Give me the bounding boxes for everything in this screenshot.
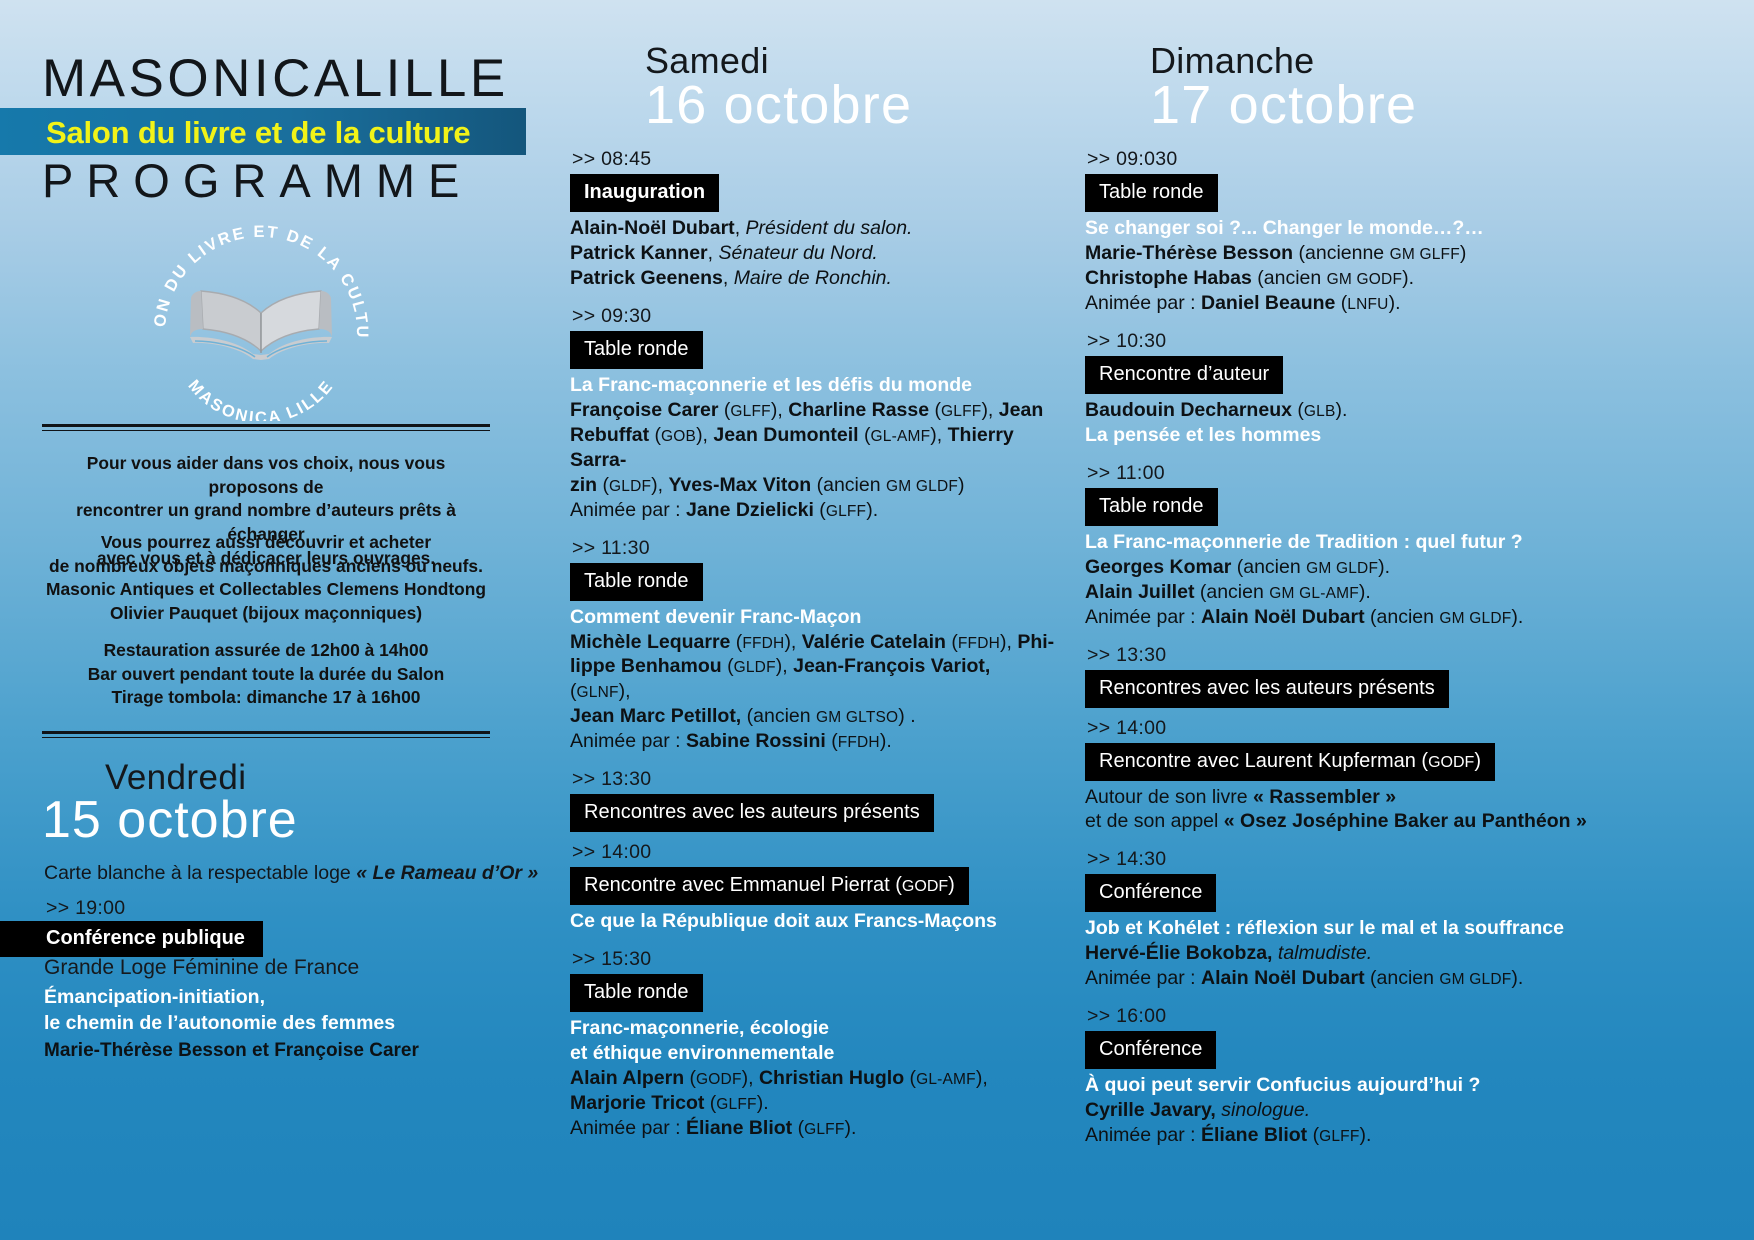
lodge-abbrev: GL-AMF (916, 1071, 976, 1088)
lodge-abbrev: GODF (1428, 754, 1474, 771)
person-name: Éliane Bliot (1201, 1124, 1307, 1146)
body-text: ( (1292, 399, 1304, 421)
slot-body-line: Alain Juillet (ancien GM GL-AMF). (1085, 580, 1615, 605)
slot-label-bar: Rencontre avec Emmanuel Pierrat (GODF) (570, 867, 969, 905)
person-name: Alain-Noël Dubart (570, 217, 735, 239)
body-text: Animée par : (570, 499, 686, 521)
slot-body: La Franc-maçonnerie de Tradition : quel … (1085, 530, 1615, 630)
person-role: Maire de Ronchin. (734, 267, 892, 289)
slot-time: >> 13:30 (1085, 644, 1615, 667)
person-name: Patrick Geenens (570, 267, 723, 289)
slot-body-line: Michèle Lequarre (FFDH), Valérie Catelai… (570, 630, 1055, 655)
event-title: À quoi peut servir Confucius aujourd’hui… (1085, 1074, 1480, 1096)
slot-body-line: Patrick Kanner, Sénateur du Nord. (570, 241, 1055, 266)
person-name: Jean (999, 399, 1043, 421)
slot-label-bar: Conférence (1085, 1031, 1216, 1069)
body-text: ( (1335, 292, 1347, 314)
event-title: et éthique environnementale (570, 1042, 834, 1064)
lodge-abbrev: GM GL-AMF (1269, 585, 1359, 602)
body-text: ( (730, 631, 742, 653)
slot-body-line: Autour de son livre « Rassembler » (1085, 785, 1615, 810)
person-name: Marie-Thérèse Besson (1085, 242, 1293, 264)
slot-body-line: Franc-maçonnerie, écologie (570, 1016, 1055, 1041)
slot-body-line: Animée par : Daniel Beaune (LNFU). (1085, 291, 1615, 316)
slot-label-bar: Table ronde (570, 331, 703, 369)
body-text: ). (1389, 292, 1401, 314)
subtitle-band: Salon du livre et de la culture (0, 108, 526, 155)
sunday-slot-list: >> 09:030Table rondeSe changer soi ?... … (1085, 148, 1615, 1162)
friday-title-line-2: le chemin de l’autonomie des femmes (44, 1012, 395, 1035)
event-title: Job et Kohélet : réflexion sur le mal et… (1085, 917, 1564, 939)
body-text: ). (757, 1092, 769, 1114)
body-text: (ancien (1194, 581, 1269, 603)
slot-spacer (1085, 834, 1615, 848)
body-text: ), (771, 399, 788, 421)
person-name: Jean Marc Petillot, (570, 705, 741, 727)
slot-time: >> 09:30 (570, 305, 1055, 328)
slot-body-line: Cyrille Javary, sinologue. (1085, 1098, 1615, 1123)
body-text: ( (814, 499, 826, 521)
lodge-abbrev: GLFF (804, 1121, 844, 1138)
person-name: Georges Komar (1085, 556, 1231, 578)
body-text: ), (619, 680, 631, 702)
slot-spacer (1085, 708, 1615, 717)
person-name: Phi- (1017, 631, 1054, 653)
person-name: Alain Noël Dubart (1201, 606, 1365, 628)
lodge-abbrev: GM GLFF (1390, 246, 1460, 263)
slot-label-bar: Rencontres avec les auteurs présents (1085, 670, 1449, 708)
schedule-slot: >> 10:30Rencontre d’auteurBaudouin Decha… (1085, 330, 1615, 462)
slot-time: >> 11:00 (1085, 462, 1615, 485)
slot-body: Baudouin Decharneux (GLB).La pensée et l… (1085, 398, 1615, 448)
schedule-slot: >> 14:30ConférenceJob et Kohélet : réfle… (1085, 848, 1615, 1005)
body-text: et de son appel (1085, 810, 1224, 832)
slot-time: >> 14:30 (1085, 848, 1615, 871)
slot-spacer (1085, 316, 1615, 330)
slot-time: >> 10:30 (1085, 330, 1615, 353)
body-text: ( (722, 655, 734, 677)
body-text: ), (976, 1067, 988, 1089)
friday-speakers: Marie-Thérèse Besson et Françoise Carer (44, 1040, 419, 1062)
lodge-abbrev: GLNF (577, 684, 619, 701)
paren-close: ) (948, 874, 955, 896)
schedule-slot: >> 13:30Rencontres avec les auteurs prés… (570, 768, 1055, 841)
body-text: (ancien (1365, 606, 1440, 628)
saturday-date: 16 octobre (645, 78, 912, 132)
person-name: Michèle Lequarre (570, 631, 730, 653)
slot-label-bar: Table ronde (570, 974, 703, 1012)
slot-spacer (570, 523, 1055, 537)
slot-spacer (570, 1141, 1055, 1155)
schedule-slot: >> 14:00Rencontre avec Emmanuel Pierrat … (570, 841, 1055, 948)
event-title: Ce que la République doit aux Francs-Maç… (570, 910, 997, 932)
slot-body-line: Baudouin Decharneux (GLB). (1085, 398, 1615, 423)
slot-body-line: Françoise Carer (GLFF), Charline Rasse (… (570, 398, 1055, 423)
body-text: ). (1360, 1124, 1372, 1146)
body-text: ). (1511, 606, 1523, 628)
slot-body-line: zin (GLDF), Yves-Max Viton (ancien GM GL… (570, 473, 1055, 498)
body-text: ( (792, 1117, 804, 1139)
slot-time: >> 16:00 (1085, 1005, 1615, 1028)
person-name: Alain Alpern (570, 1067, 684, 1089)
divider-bottom (42, 731, 490, 738)
person-role: sinologue. (1221, 1099, 1310, 1121)
intro-paragraph-3: Restauration assurée de 12h00 à 14h00 Ba… (40, 639, 492, 710)
event-title: La Franc-maçonnerie et les défis du mond… (570, 374, 972, 396)
body-text: ), (1000, 631, 1017, 653)
schedule-slot: >> 11:30Table rondeComment devenir Franc… (570, 537, 1055, 769)
slot-body-line: À quoi peut servir Confucius aujourd’hui… (1085, 1073, 1615, 1098)
body-text: ( (684, 1067, 696, 1089)
svg-text:MASONICA LILLE: MASONICA LILLE (185, 377, 338, 421)
friday-carte-blanche: Carte blanche à la respectable loge « Le… (44, 862, 538, 885)
slot-body-line: Alain Alpern (GODF), Christian Huglo (GL… (570, 1066, 1055, 1091)
slot-body-line: Se changer soi ?... Changer le monde…?… (1085, 216, 1615, 241)
schedule-slot: >> 09:030Table rondeSe changer soi ?... … (1085, 148, 1615, 330)
slot-body-line: Marjorie Tricot (GLFF). (570, 1091, 1055, 1116)
programme-heading: PROGRAMME (42, 157, 472, 204)
slot-body: Job et Kohélet : réflexion sur le mal et… (1085, 916, 1615, 991)
body-text: (ancien (1231, 556, 1306, 578)
schedule-slot: >> 16:00ConférenceÀ quoi peut servir Con… (1085, 1005, 1615, 1162)
slot-body-line: Jean Marc Petillot, (ancien GM GLTSO) . (570, 704, 1055, 729)
body-text: ), (776, 655, 793, 677)
body-text: ( (946, 631, 958, 653)
person-name: Marjorie Tricot (570, 1092, 704, 1114)
schedule-slot: >> 14:00Rencontre avec Laurent Kupferman… (1085, 717, 1615, 849)
body-text: , (723, 267, 734, 289)
brand-title: MASONICALILLE (42, 52, 509, 105)
intro-paragraph-2: Vous pourrez aussi découvrir et acheter … (40, 531, 492, 626)
carte-blanche-loge: « Le Rameau d’Or » (356, 862, 538, 884)
person-name: Jane Dzielicki (686, 499, 814, 521)
person-name: Rebuffat (570, 424, 649, 446)
person-name: Sabine Rossini (686, 730, 826, 752)
person-name: Alain Noël Dubart (1201, 967, 1365, 989)
slot-body-line: Rebuffat (GOB), Jean Dumonteil (GL-AMF),… (570, 423, 1055, 473)
lodge-abbrev: GL-AMF (871, 428, 931, 445)
body-text: ) (1460, 242, 1467, 264)
slot-time: >> 14:00 (570, 841, 1055, 864)
lodge-abbrev: GLB (1304, 403, 1336, 420)
person-name: lippe Benhamou (570, 655, 722, 677)
schedule-slot: >> 13:30Rencontres avec les auteurs prés… (1085, 644, 1615, 717)
body-text: , (708, 242, 719, 264)
slot-time: >> 14:00 (1085, 717, 1615, 740)
slot-body: Alain-Noël Dubart, Président du salon.Pa… (570, 216, 1055, 291)
slot-body: La Franc-maçonnerie et les défis du mond… (570, 373, 1055, 523)
body-text: ), (981, 399, 998, 421)
lodge-abbrev: GODF (696, 1071, 742, 1088)
friday-time: >> 19:00 (44, 897, 125, 920)
person-role: talmudiste. (1278, 942, 1372, 964)
lodge-abbrev: GM GLTSO (816, 709, 898, 726)
slot-spacer (570, 934, 1055, 948)
slot-body-line: Job et Kohélet : réflexion sur le mal et… (1085, 916, 1615, 941)
person-name: « Osez Joséphine Baker au Panthéon » (1224, 810, 1587, 832)
person-name: Valérie Catelain (802, 631, 946, 653)
person-name: Christian Huglo (759, 1067, 904, 1089)
event-title: Se changer soi ?... Changer le monde…?… (1085, 217, 1484, 239)
lodge-abbrev: GM GLDF (886, 478, 958, 495)
body-text: ). (1378, 556, 1390, 578)
slot-spacer (1085, 1148, 1615, 1162)
person-name: Hervé-Élie Bokobza, (1085, 942, 1272, 964)
person-name: Charline Rasse (788, 399, 929, 421)
body-text: (ancien (811, 474, 886, 496)
friday-title-line-1: Émancipation-initiation, (44, 986, 265, 1009)
body-text: ), (651, 474, 668, 496)
slot-body-line: Animée par : Éliane Bliot (GLFF). (570, 1116, 1055, 1141)
event-title: La Franc-maçonnerie de Tradition : quel … (1085, 531, 1523, 553)
paren-close: ) (1474, 750, 1481, 772)
sunday-date: 17 octobre (1150, 78, 1417, 132)
slot-body-line: Alain-Noël Dubart, Président du salon. (570, 216, 1055, 241)
lodge-abbrev: GLFF (1319, 1128, 1359, 1145)
body-text: ( (859, 424, 871, 446)
slot-body-line: Christophe Habas (ancien GM GODF). (1085, 266, 1615, 291)
person-name: « Rassembler » (1253, 786, 1396, 808)
body-text: (ancien (741, 705, 816, 727)
slot-time: >> 08:45 (570, 148, 1055, 171)
paren-open: ( (895, 874, 902, 896)
body-text: ). (1511, 967, 1523, 989)
body-text: Autour de son livre (1085, 786, 1253, 808)
body-text: ( (649, 424, 661, 446)
slot-body-line: La pensée et les hommes (1085, 423, 1615, 448)
slot-label-bar: Rencontre d’auteur (1085, 356, 1283, 394)
person-name: Jean Dumonteil (713, 424, 858, 446)
slot-spacer (570, 832, 1055, 841)
saturday-heading: Samedi 16 octobre (645, 40, 912, 132)
slot-body-line: et de son appel « Osez Joséphine Baker a… (1085, 809, 1615, 834)
body-text: ). (845, 1117, 857, 1139)
schedule-slot: >> 08:45InaugurationAlain-Noël Dubart, P… (570, 148, 1055, 305)
body-text: ( (1307, 1124, 1319, 1146)
slot-time: >> 15:30 (570, 948, 1055, 971)
open-book-icon (190, 291, 332, 360)
person-name: Jean-François Variot, (793, 655, 990, 677)
body-text: ). (1402, 267, 1414, 289)
slot-body: Se changer soi ?... Changer le monde…?…M… (1085, 216, 1615, 316)
person-name: Baudouin Decharneux (1085, 399, 1292, 421)
person-name: Christophe Habas (1085, 267, 1252, 289)
lodge-abbrev: GLDF (609, 478, 651, 495)
lodge-abbrev: GLFF (941, 403, 981, 420)
slot-time: >> 11:30 (570, 537, 1055, 560)
body-text: , (735, 217, 746, 239)
friday-event-label: Conférence publique (0, 921, 263, 957)
slot-body: À quoi peut servir Confucius aujourd’hui… (1085, 1073, 1615, 1148)
slot-body: Comment devenir Franc-MaçonMichèle Lequa… (570, 605, 1055, 755)
event-title: Comment devenir Franc-Maçon (570, 606, 861, 628)
body-text: Animée par : (1085, 1124, 1201, 1146)
slot-label-text: Rencontre avec Emmanuel Pierrat (584, 874, 895, 896)
divider-top (42, 424, 490, 431)
body-text: ) (958, 474, 965, 496)
body-text: ), (742, 1067, 759, 1089)
slot-body-line: Animée par : Éliane Bliot (GLFF). (1085, 1123, 1615, 1148)
body-text: ( (904, 1067, 916, 1089)
slot-label-bar: Table ronde (1085, 174, 1218, 212)
slot-body-line: Marie-Thérèse Besson (ancienne GM GLFF) (1085, 241, 1615, 266)
saturday-slot-list: >> 08:45InaugurationAlain-Noël Dubart, P… (570, 148, 1055, 1155)
lodge-abbrev: GLFF (716, 1096, 756, 1113)
slot-label-bar: Table ronde (1085, 488, 1218, 526)
body-text: ). (866, 499, 878, 521)
lodge-abbrev: GOB (661, 428, 696, 445)
subtitle-text: Salon du livre et de la culture (46, 115, 470, 151)
person-role: Président du salon. (746, 217, 913, 239)
slot-spacer (1085, 630, 1615, 644)
event-title: Franc-maçonnerie, écologie (570, 1017, 829, 1039)
event-title: La pensée et les hommes (1085, 424, 1321, 446)
body-text: ( (719, 399, 731, 421)
body-text: ). (1336, 399, 1348, 421)
body-text: (ancien (1365, 967, 1440, 989)
slot-body-line: lippe Benhamou (GLDF), Jean-François Var… (570, 654, 1055, 704)
body-text: ), (696, 424, 713, 446)
body-text: (ancien (1252, 267, 1327, 289)
friday-organisation: Grande Loge Féminine de France (44, 956, 359, 980)
schedule-slot: >> 09:30Table rondeLa Franc-maçonnerie e… (570, 305, 1055, 537)
salon-logo: SALON DU LIVRE ET DE LA CULTURE MASONICA… (143, 221, 379, 421)
slot-label-bar: Rencontre avec Laurent Kupferman (GODF) (1085, 743, 1495, 781)
slot-body-line: Comment devenir Franc-Maçon (570, 605, 1055, 630)
slot-body: Ce que la République doit aux Francs-Maç… (570, 909, 1055, 934)
body-text: ( (704, 1092, 716, 1114)
person-name: Éliane Bliot (686, 1117, 792, 1139)
slot-body-line: Animée par : Jane Dzielicki (GLFF). (570, 498, 1055, 523)
lodge-abbrev: GM GODF (1327, 271, 1402, 288)
person-name: Alain Juillet (1085, 581, 1194, 603)
lodge-abbrev: FFDH (838, 734, 880, 751)
slot-label-bar: Inauguration (570, 174, 719, 212)
slot-body-line: Animée par : Alain Noël Dubart (ancien G… (1085, 605, 1615, 630)
body-text: ), (784, 631, 801, 653)
slot-spacer (1085, 991, 1615, 1005)
slot-body-line: La Franc-maçonnerie de Tradition : quel … (1085, 530, 1615, 555)
person-name: Patrick Kanner (570, 242, 708, 264)
person-name: Cyrille Javary, (1085, 1099, 1216, 1121)
body-text: ) . (898, 705, 915, 727)
body-text: (ancienne (1293, 242, 1389, 264)
body-text: ). (880, 730, 892, 752)
left-column: MASONICALILLE Salon du livre et de la cu… (0, 0, 540, 1240)
body-text: Animée par : (570, 730, 686, 752)
body-text: Animée par : (570, 1117, 686, 1139)
person-name: Françoise Carer (570, 399, 719, 421)
person-role: Sénateur du Nord. (719, 242, 878, 264)
slot-body-line: Hervé-Élie Bokobza, talmudiste. (1085, 941, 1615, 966)
body-text: Animée par : (1085, 292, 1201, 314)
slot-label-text: Rencontre avec Laurent Kupferman (1099, 750, 1421, 772)
slot-label-bar: Conférence (1085, 874, 1216, 912)
friday-date: 15 octobre (42, 790, 298, 850)
sunday-heading: Dimanche 17 octobre (1150, 40, 1417, 132)
lodge-abbrev: FFDH (742, 635, 784, 652)
lodge-abbrev: LNFU (1347, 296, 1388, 313)
slot-body: Franc-maçonnerie, écologieet éthique env… (570, 1016, 1055, 1141)
body-text: ( (929, 399, 941, 421)
body-text: ). (1359, 581, 1371, 603)
person-name: zin (570, 474, 597, 496)
slot-spacer (570, 754, 1055, 768)
schedule-slot: >> 11:00Table rondeLa Franc-maçonnerie d… (1085, 462, 1615, 644)
body-text: ( (826, 730, 838, 752)
schedule-slot: >> 15:30Table rondeFranc-maçonnerie, éco… (570, 948, 1055, 1155)
lodge-abbrev: GM GLDF (1439, 610, 1511, 627)
slot-time: >> 13:30 (570, 768, 1055, 791)
lodge-abbrev: FFDH (958, 635, 1000, 652)
slot-body-line: Animée par : Sabine Rossini (FFDH). (570, 729, 1055, 754)
slot-body: Autour de son livre « Rassembler »et de … (1085, 785, 1615, 835)
lodge-abbrev: GLDF (734, 659, 776, 676)
slot-spacer (1085, 448, 1615, 462)
slot-body-line: et éthique environnementale (570, 1041, 1055, 1066)
lodge-abbrev: GLFF (730, 403, 770, 420)
body-text: Animée par : (1085, 606, 1201, 628)
slot-label-bar: Rencontres avec les auteurs présents (570, 794, 934, 832)
slot-body-line: Patrick Geenens, Maire de Ronchin. (570, 266, 1055, 291)
lodge-abbrev: GODF (902, 878, 948, 895)
person-name: Daniel Beaune (1201, 292, 1335, 314)
body-text: ( (597, 474, 609, 496)
person-name: Yves-Max Viton (669, 474, 812, 496)
lodge-abbrev: GLFF (826, 503, 866, 520)
slot-body-line: La Franc-maçonnerie et les défis du mond… (570, 373, 1055, 398)
slot-body-line: Georges Komar (ancien GM GLDF). (1085, 555, 1615, 580)
slot-label-bar: Table ronde (570, 563, 703, 601)
slot-time: >> 09:030 (1085, 148, 1615, 171)
lodge-abbrev: GM GLDF (1439, 971, 1511, 988)
slot-spacer (570, 291, 1055, 305)
carte-blanche-prefix: Carte blanche à la respectable loge (44, 862, 356, 884)
slot-body-line: Ce que la République doit aux Francs-Maç… (570, 909, 1055, 934)
lodge-abbrev: GM GLDF (1306, 560, 1378, 577)
slot-body-line: Animée par : Alain Noël Dubart (ancien G… (1085, 966, 1615, 991)
body-text: Animée par : (1085, 967, 1201, 989)
body-text: ), (930, 424, 947, 446)
